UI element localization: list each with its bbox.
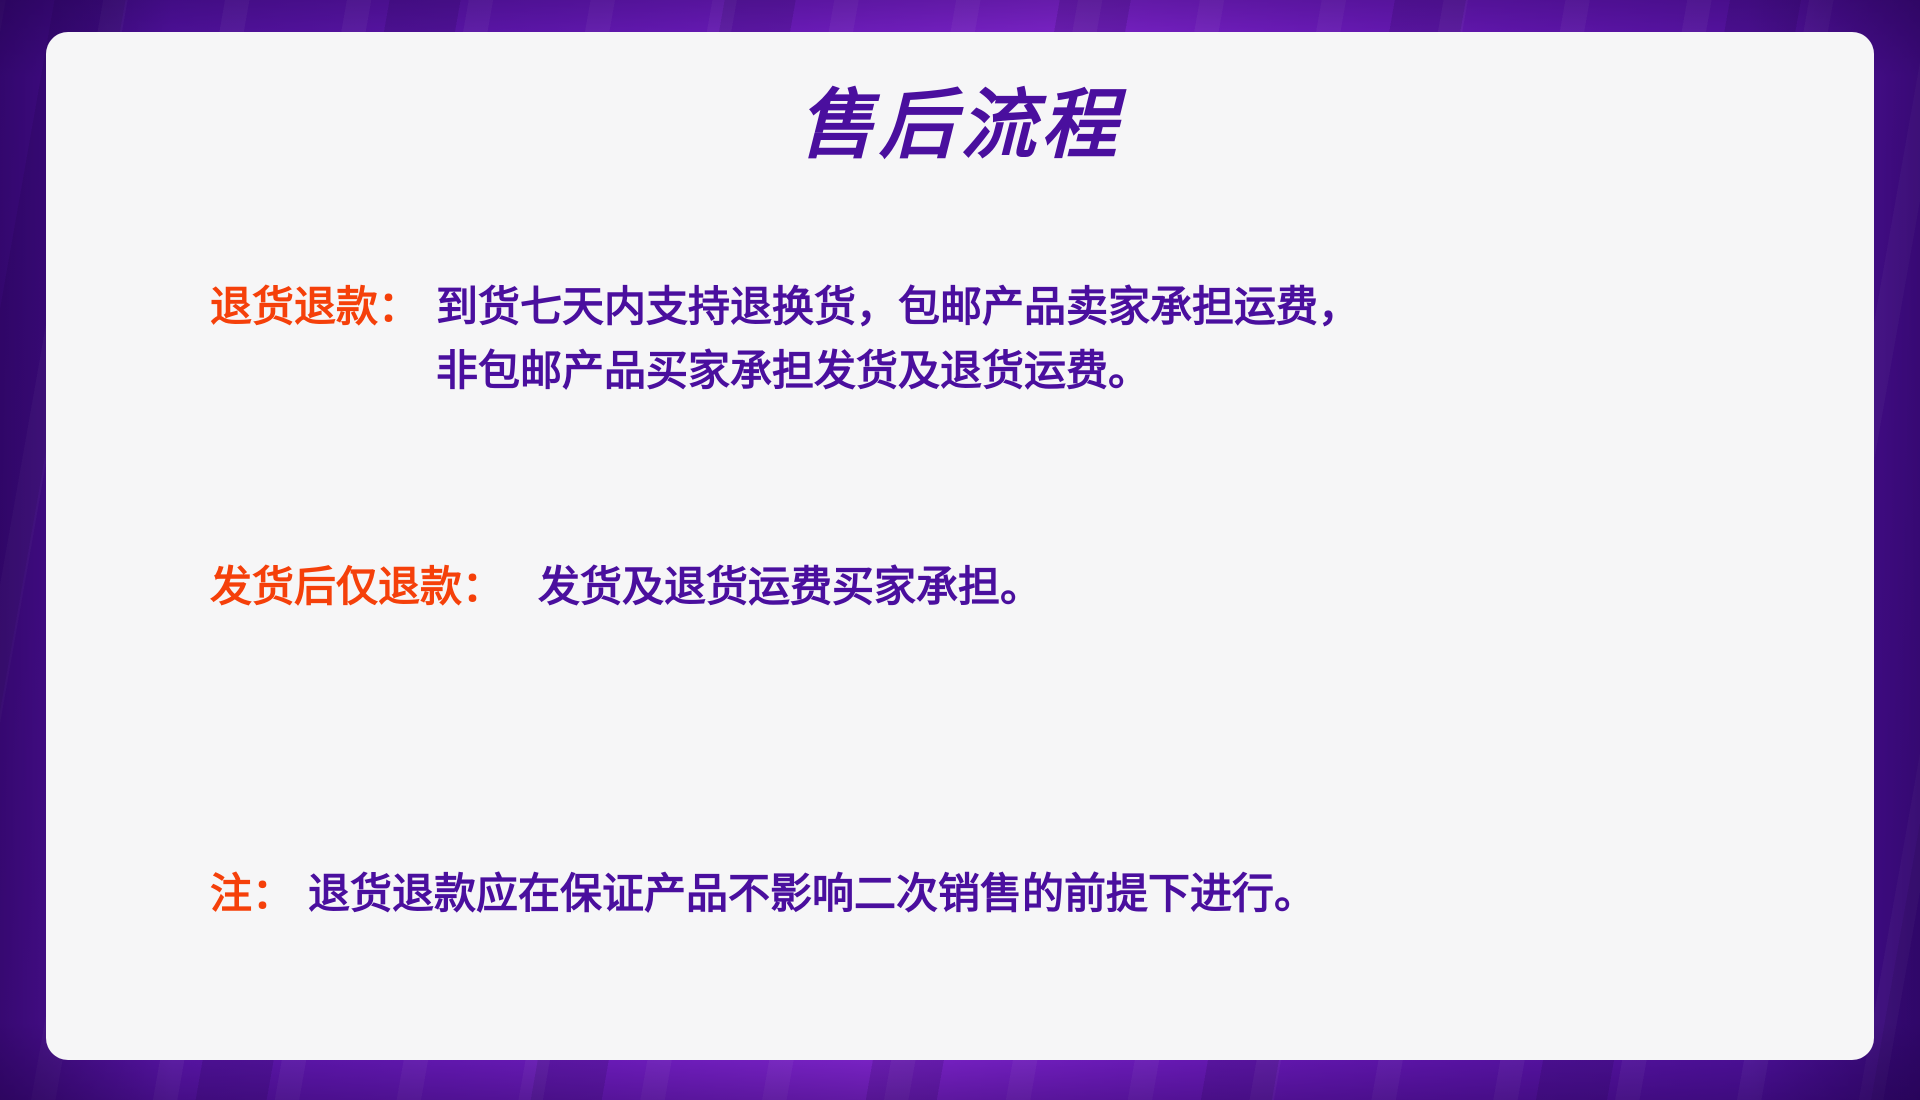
- section-label-note: 注：: [210, 862, 294, 926]
- page-title: 售后流程: [0, 86, 1920, 166]
- section-label-return-refund: 退货退款：: [210, 275, 420, 339]
- section-note: 注： 退货退款应在保证产品不影响二次销售的前提下进行。: [210, 862, 1690, 926]
- section-text-refund-only: 发货及退货运费买家承担。: [538, 555, 1690, 619]
- section-refund-only: 发货后仅退款： 发货及退货运费买家承担。: [210, 555, 1690, 619]
- section-text-line-1: 到货七天内支持退换货，包邮产品卖家承担运费，: [436, 275, 1690, 339]
- section-return-refund: 退货退款： 到货七天内支持退换货，包邮产品卖家承担运费， 非包邮产品买家承担发货…: [210, 275, 1690, 403]
- content-body: 退货退款： 到货七天内支持退换货，包邮产品卖家承担运费， 非包邮产品买家承担发货…: [210, 275, 1690, 926]
- section-text-note: 退货退款应在保证产品不影响二次销售的前提下进行。: [308, 862, 1690, 926]
- section-text-line-2: 非包邮产品买家承担发货及退货运费。: [436, 339, 1690, 403]
- section-text-return-refund: 到货七天内支持退换货，包邮产品卖家承担运费， 非包邮产品买家承担发货及退货运费。: [436, 275, 1690, 403]
- slide-background: 售后流程 退货退款： 到货七天内支持退换货，包邮产品卖家承担运费， 非包邮产品买…: [0, 0, 1920, 1100]
- section-label-refund-only: 发货后仅退款：: [210, 555, 504, 619]
